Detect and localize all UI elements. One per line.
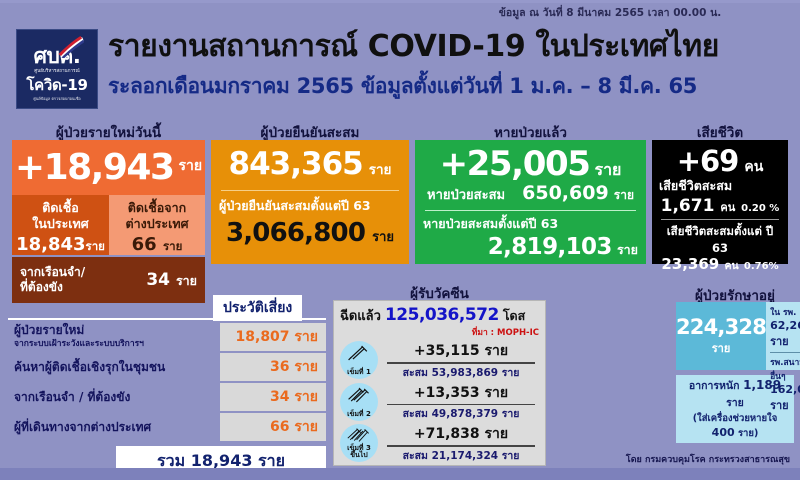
- in-treatment-breakdown: ใน รพ. 62,263 ราย รพ.สนามและอื่นๆ 162,06…: [766, 302, 800, 370]
- domestic-cases-block: ติดเชื้อ ในประเทศ 18,843ราย: [12, 195, 109, 255]
- severe-unit: ราย: [726, 397, 744, 409]
- domestic-label-line2: ในประเทศ: [32, 216, 88, 231]
- new-cases-split: ติดเชื้อ ในประเทศ 18,843ราย ติดเชื้อจาก …: [12, 195, 205, 255]
- dose-1-today: +35,115 ราย: [383, 340, 539, 362]
- imported-unit: ราย: [163, 239, 182, 253]
- deaths-cumulative-unit: คน: [720, 201, 735, 214]
- thai-flag-ribbon: [58, 36, 84, 58]
- syringe-icon: เข็มที่ 2: [340, 383, 378, 421]
- recovered-cumulative-label: หายป่วยสะสม: [427, 184, 505, 205]
- cumulative-panel: 843,365 ราย ผู้ป่วยยืนยันสะสมตั้งแต่ปี 6…: [211, 140, 409, 264]
- dose-3-badge-sublabel: ขึ้นไป: [350, 451, 368, 459]
- severe-label: อาการหนัก: [689, 380, 740, 392]
- as-of-date: ข้อมูล ณ วันที่ 8 มีนาคม 2565 เวลา 00.00…: [430, 4, 790, 21]
- imported-label-line2: ต่างประเทศ: [125, 216, 188, 231]
- deaths-today: +69: [677, 144, 739, 178]
- domestic-unit: ราย: [86, 239, 105, 253]
- vaccine-injected-label: ฉีดแล้ว: [340, 305, 381, 326]
- in-treatment-panel: 224,328 ราย ใน รพ. 62,263 ราย รพ.สนามและ…: [676, 302, 794, 443]
- dose-3-today: +71,838 ราย: [383, 423, 539, 445]
- recovered-divider: [425, 210, 636, 211]
- ventilator-unit: ราย): [738, 428, 758, 439]
- logo-line-2: ศูนย์บริหารสถานการณ์: [34, 69, 80, 75]
- deaths-since-unit: คน: [724, 260, 738, 272]
- dose-1-badge-label: เข็มที่ 1: [347, 368, 371, 376]
- dose-2-badge-label: เข็มที่ 2: [347, 410, 371, 418]
- bottom-divider: [0, 468, 800, 480]
- imported-label-line1: ติดเชื้อจาก: [128, 200, 186, 215]
- prison-value: 34: [146, 270, 170, 290]
- recovered-since-value: 2,819,103: [488, 234, 612, 260]
- ventilator-value: 400: [712, 426, 735, 439]
- cumulative-since-label: ผู้ป่วยยืนยันสะสมตั้งแต่ปี 63: [219, 196, 401, 216]
- treatment-divider: [770, 352, 800, 353]
- ventilator-label: (ใส่เครื่องช่วยหายใจ: [693, 413, 778, 424]
- deaths-panel: +69 คน เสียชีวิตสะสม 1,671 คน 0.20 % เสี…: [652, 140, 788, 264]
- table-row: ค้นหาผู้ติดเชื้อเชิงรุกในชุมชน 36 ราย: [8, 354, 326, 380]
- domestic-label-line1: ติดเชื้อ: [42, 200, 79, 215]
- syringe-glyph: [346, 344, 372, 362]
- hospital-value: 62,263 ราย: [770, 319, 800, 350]
- recovered-cumulative-unit: ราย: [614, 188, 634, 202]
- cccsa-logo: ศบค. ศูนย์บริหารสถานการณ์ โควิด-19 ศูนย์…: [16, 29, 98, 109]
- page-subtitle: ระลอกเดือนมกราคม 2565 ข้อมูลตั้งแต่วันที…: [108, 70, 798, 103]
- deaths-since-pct: 0.76%: [744, 261, 779, 272]
- recovered-since-unit: ราย: [617, 242, 638, 257]
- hospital-label: ใน รพ.: [770, 305, 800, 319]
- dose-2-cumulative: สะสม 49,878,379 ราย: [383, 405, 539, 422]
- dose-1-cumulative: สะสม 53,983,869 ราย: [383, 364, 539, 381]
- syringe-icon: เข็มที่ 1: [340, 341, 378, 379]
- recovered-panel: +25,005 ราย หายป่วยสะสม 650,609 ราย หายป…: [415, 140, 646, 264]
- prison-label-line1: จากเรือนจำ/: [20, 265, 85, 279]
- cumulative-divider: [221, 190, 399, 191]
- table-row: จากเรือนจำ / ที่ต้องขัง 34 ราย: [8, 384, 326, 410]
- imported-cases-block: ติดเชื้อจาก ต่างประเทศ 66 ราย: [109, 195, 205, 255]
- dose-3-row: เข็มที่ 3ขึ้นไป +71,838 ราย สะสม 21,174,…: [340, 423, 539, 464]
- prison-cases-block: จากเรือนจำ/ ที่ต้องขัง 34 ราย: [12, 257, 205, 303]
- risk-row-2-value: 34 ราย: [220, 383, 326, 411]
- risk-row-3-value: 66 ราย: [220, 413, 326, 441]
- severe-value: 1,189: [743, 378, 781, 392]
- vaccine-source: ที่มา : MOPH-IC: [340, 325, 539, 339]
- vaccine-injected-value: 125,036,572: [385, 305, 499, 325]
- deaths-today-unit: คน: [744, 156, 763, 178]
- deaths-since-value: 23,369: [661, 255, 719, 273]
- deaths-since-label: เสียชีวิตสะสมตั้งแต่ ปี 63: [659, 223, 781, 255]
- risk-row-2-label: จากเรือนจำ / ที่ต้องขัง: [14, 391, 220, 404]
- deaths-cumulative-value: 1,671: [661, 196, 715, 216]
- top-divider: [0, 0, 800, 3]
- risk-history-title: ประวัติเสี่ยง: [213, 295, 302, 321]
- new-cases-total-block: +18,943 ราย: [12, 140, 205, 195]
- syringe-icon: เข็มที่ 3ขึ้นไป: [340, 424, 378, 462]
- footer-credit: โดย กรมควบคุมโรค กระทรวงสาธารณสุข: [626, 452, 790, 466]
- risk-row-0-label: ผู้ป่วยรายใหม่: [14, 324, 220, 337]
- prison-label-line2: ที่ต้องขัง: [20, 280, 63, 294]
- recovered-today-unit: ราย: [594, 158, 621, 183]
- vaccine-injected-unit: โดส: [503, 306, 525, 326]
- deaths-cumulative-pct: 0.20 %: [741, 203, 779, 214]
- deaths-divider: [661, 219, 779, 220]
- new-cases-total-unit: ราย: [179, 155, 203, 181]
- syringe-glyph: [346, 386, 372, 404]
- vaccination-panel: ฉีดแล้ว 125,036,572 โดส ที่มา : MOPH-IC …: [333, 300, 546, 466]
- risk-row-3-label: ผู้ที่เดินทางจากต่างประเทศ: [14, 421, 220, 434]
- table-row: ผู้ที่เดินทางจากต่างประเทศ 66 ราย: [8, 414, 326, 440]
- prison-unit: ราย: [176, 273, 197, 288]
- dose-2-row: เข็มที่ 2 +13,353 ราย สะสม 49,878,379 รา…: [340, 382, 539, 423]
- page-title: รายงานสถานการณ์ COVID-19 ในประเทศไทย: [108, 30, 798, 64]
- in-treatment-total-block: 224,328 ราย: [676, 302, 766, 370]
- dose-3-cumulative: สะสม 21,174,324 ราย: [383, 447, 539, 464]
- risk-row-0-sublabel: จากระบบเฝ้าระวังและระบบบริการฯ: [14, 336, 220, 350]
- cumulative-since-unit: ราย: [372, 226, 394, 247]
- infographic-page: ข้อมูล ณ วันที่ 8 มีนาคม 2565 เวลา 00.00…: [0, 0, 800, 480]
- risk-row-1-value: 36 ราย: [220, 353, 326, 381]
- dose-1-row: เข็มที่ 1 +35,115 ราย สะสม 53,983,869 รา…: [340, 340, 539, 381]
- dose-2-today: +13,353 ราย: [383, 382, 539, 404]
- risk-row-1-label: ค้นหาผู้ติดเชื้อเชิงรุกในชุมชน: [14, 361, 220, 374]
- syringe-glyph: [346, 427, 372, 443]
- logo-line-3: โควิด-19: [26, 77, 87, 94]
- cumulative-unit: ราย: [369, 158, 392, 180]
- in-treatment-total-unit: ราย: [712, 339, 731, 357]
- logo-line-4: ศูนย์ข้อมูล ตรวจสอบก่อนเชื่อ: [33, 96, 80, 102]
- cumulative-since-value: 3,066,800: [226, 218, 365, 248]
- new-cases-total: +18,943: [15, 147, 174, 188]
- recovered-cumulative-value: 650,609: [522, 182, 609, 204]
- in-treatment-total: 224,328: [676, 315, 766, 339]
- recovered-since-label: หายป่วยสะสมตั้งแต่ปี 63: [423, 214, 638, 234]
- deaths-cumulative-label: เสียชีวิตสะสม: [659, 176, 781, 196]
- table-row: ผู้ป่วยรายใหม่ จากระบบเฝ้าระวังและระบบบร…: [8, 324, 326, 350]
- cumulative-value: 843,365: [229, 146, 363, 182]
- imported-value: 66: [132, 234, 157, 255]
- new-cases-panel: +18,943 ราย ติดเชื้อ ในประเทศ 18,843ราย …: [12, 140, 205, 303]
- risk-history-panel: ประวัติเสี่ยง ผู้ป่วยรายใหม่ จากระบบเฝ้า…: [8, 318, 326, 477]
- domestic-value: 18,843: [16, 234, 85, 255]
- risk-row-0-value: 18,807 ราย: [220, 323, 326, 351]
- recovered-today: +25,005: [440, 144, 590, 184]
